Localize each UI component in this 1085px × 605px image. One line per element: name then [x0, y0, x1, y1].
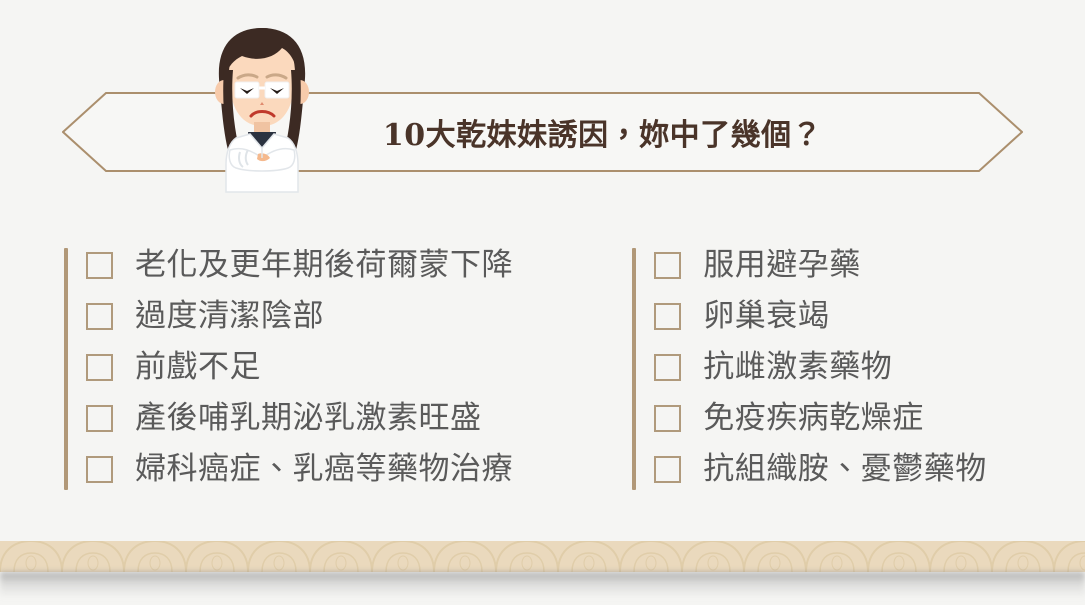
checklist-container: 老化及更年期後荷爾蒙下降 過度清潔陰部 前戲不足 產後哺乳期泌乳激素旺盛 婦科癌…: [64, 240, 1064, 498]
list-item-label: 老化及更年期後荷爾蒙下降: [135, 250, 513, 281]
list-item[interactable]: 老化及更年期後荷爾蒙下降: [86, 240, 632, 291]
list-item[interactable]: 抗雌激素藥物: [654, 342, 1064, 393]
checkbox-icon[interactable]: [654, 354, 681, 381]
doctor-avatar-icon: [196, 18, 328, 200]
list-item-label: 婦科癌症、乳癌等藥物治療: [135, 454, 513, 485]
checklist-column-left: 老化及更年期後荷爾蒙下降 過度清潔陰部 前戲不足 產後哺乳期泌乳激素旺盛 婦科癌…: [64, 240, 632, 498]
checkbox-icon[interactable]: [654, 456, 681, 483]
column-divider-left: [64, 248, 68, 490]
bottom-pattern-band: [0, 541, 1085, 572]
list-item[interactable]: 卵巢衰竭: [654, 291, 1064, 342]
infographic-poster: 10大乾妹妹誘因，妳中了幾個？: [0, 0, 1085, 605]
band-drop-shadow: [0, 572, 1085, 598]
list-item[interactable]: 免疫疾病乾燥症: [654, 393, 1064, 444]
list-item[interactable]: 產後哺乳期泌乳激素旺盛: [86, 393, 632, 444]
list-item[interactable]: 過度清潔陰部: [86, 291, 632, 342]
list-item[interactable]: 抗組織胺、憂鬱藥物: [654, 444, 1064, 495]
doctor-character-illustration: [196, 18, 328, 200]
column-divider-right: [632, 248, 636, 490]
list-item-label: 免疫疾病乾燥症: [703, 403, 924, 434]
checkbox-icon[interactable]: [86, 252, 113, 279]
list-item-label: 卵巢衰竭: [703, 301, 829, 332]
checklist-column-right: 服用避孕藥 卵巢衰竭 抗雌激素藥物 免疫疾病乾燥症 抗組織胺、憂鬱藥物: [632, 240, 1064, 498]
list-item-label: 前戲不足: [135, 352, 261, 383]
list-item-label: 服用避孕藥: [703, 250, 861, 281]
checkbox-icon[interactable]: [86, 405, 113, 432]
list-item-label: 過度清潔陰部: [135, 301, 324, 332]
checkbox-icon[interactable]: [654, 303, 681, 330]
checkbox-icon[interactable]: [654, 252, 681, 279]
band-arch-pattern-icon: [0, 541, 1085, 572]
list-item[interactable]: 前戲不足: [86, 342, 632, 393]
bottom-decoration: [0, 541, 1085, 605]
list-item-label: 抗組織胺、憂鬱藥物: [703, 454, 987, 485]
checkbox-icon[interactable]: [86, 303, 113, 330]
checkbox-icon[interactable]: [654, 405, 681, 432]
list-item[interactable]: 服用避孕藥: [654, 240, 1064, 291]
checkbox-icon[interactable]: [86, 456, 113, 483]
list-item[interactable]: 婦科癌症、乳癌等藥物治療: [86, 444, 632, 495]
list-item-label: 產後哺乳期泌乳激素旺盛: [135, 403, 482, 434]
list-item-label: 抗雌激素藥物: [703, 352, 892, 383]
checkbox-icon[interactable]: [86, 354, 113, 381]
